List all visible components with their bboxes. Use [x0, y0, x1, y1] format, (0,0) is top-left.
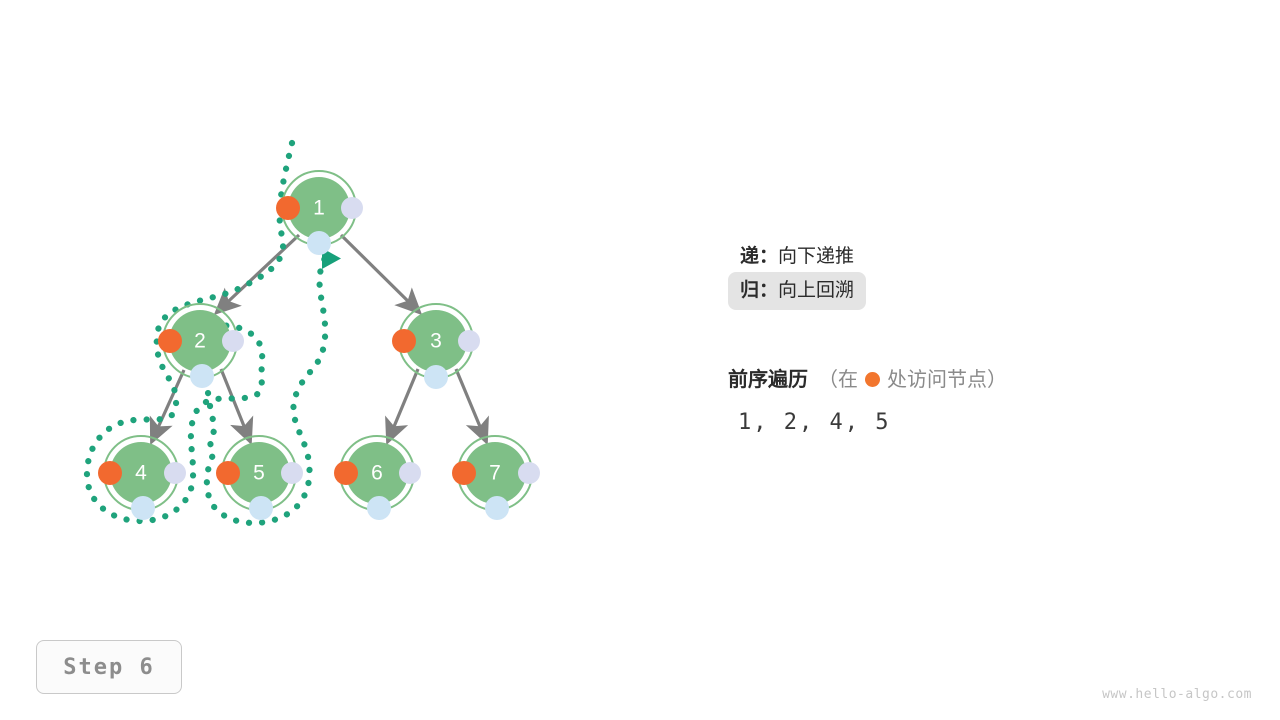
legend-row-recurse: 递：向下递推	[728, 238, 866, 276]
visit-dot	[334, 461, 358, 485]
right-slot-dot	[458, 330, 480, 352]
edge-n1-n2	[217, 235, 299, 312]
tree-node-5[interactable]: 5	[216, 436, 303, 520]
node-label: 5	[253, 462, 265, 485]
diagram-canvas: 1 2 3	[0, 0, 1280, 720]
right-slot-dot	[399, 462, 421, 484]
visit-dot	[452, 461, 476, 485]
visit-dot	[392, 329, 416, 353]
node-label: 3	[430, 330, 442, 353]
visit-dot	[158, 329, 182, 353]
edge-n2-n5	[221, 369, 250, 441]
traversal-sequence: 1, 2, 4, 5	[738, 410, 890, 435]
tree-node-4[interactable]: 4	[98, 436, 186, 520]
bottom-slot-dot	[307, 231, 331, 255]
bottom-slot-dot	[424, 365, 448, 389]
right-slot-dot	[341, 197, 363, 219]
visit-dot	[98, 461, 122, 485]
legend-line-recurse: 递：向下递推	[728, 238, 1148, 272]
step-label: Step 6	[63, 655, 154, 680]
legend-line-return: 归：向上回溯	[728, 272, 1148, 306]
traversal-title: 前序遍历	[728, 363, 808, 392]
edge-n3-n6	[388, 369, 418, 441]
node-label: 6	[371, 462, 383, 485]
node-label: 2	[194, 330, 206, 353]
bottom-slot-dot	[131, 496, 155, 520]
traversal-paren-open: （在	[818, 363, 858, 392]
edge-n1-n3	[341, 235, 419, 312]
step-badge: Step 6	[36, 640, 182, 694]
bottom-slot-dot	[485, 496, 509, 520]
node-label: 4	[135, 462, 147, 485]
visit-dot	[276, 196, 300, 220]
tree-node-3[interactable]: 3	[392, 304, 480, 389]
tree-nodes: 1 2 3	[98, 171, 540, 520]
node-label: 1	[313, 197, 325, 220]
traversal-caption: 前序遍历 （在 处访问节点）	[728, 363, 1007, 392]
bottom-slot-dot	[367, 496, 391, 520]
legend-row-return: 归：向上回溯	[728, 272, 866, 310]
bottom-slot-dot	[190, 364, 214, 388]
legend-label-return: 归：	[740, 280, 778, 301]
legend-text-return: 向上回溯	[778, 280, 854, 301]
orange-visit-dot	[865, 372, 880, 387]
traversal-paren-close: 处访问节点）	[887, 363, 1007, 392]
tree-node-7[interactable]: 7	[452, 436, 540, 520]
legend-label-recurse: 递：	[740, 246, 778, 267]
tree-node-2[interactable]: 2	[158, 304, 244, 388]
binary-tree-graphic: 1 2 3	[0, 0, 1280, 720]
right-slot-dot	[281, 462, 303, 484]
tree-node-6[interactable]: 6	[334, 436, 421, 520]
visit-dot	[216, 461, 240, 485]
legend: 递：向下递推 归：向上回溯	[728, 238, 1148, 306]
right-slot-dot	[518, 462, 540, 484]
legend-text-recurse: 向下递推	[778, 246, 854, 267]
edge-n3-n7	[456, 369, 486, 441]
right-slot-dot	[164, 462, 186, 484]
bottom-slot-dot	[249, 496, 273, 520]
node-label: 7	[489, 462, 501, 485]
right-slot-dot	[222, 330, 244, 352]
watermark: www.hello-algo.com	[1102, 687, 1252, 702]
